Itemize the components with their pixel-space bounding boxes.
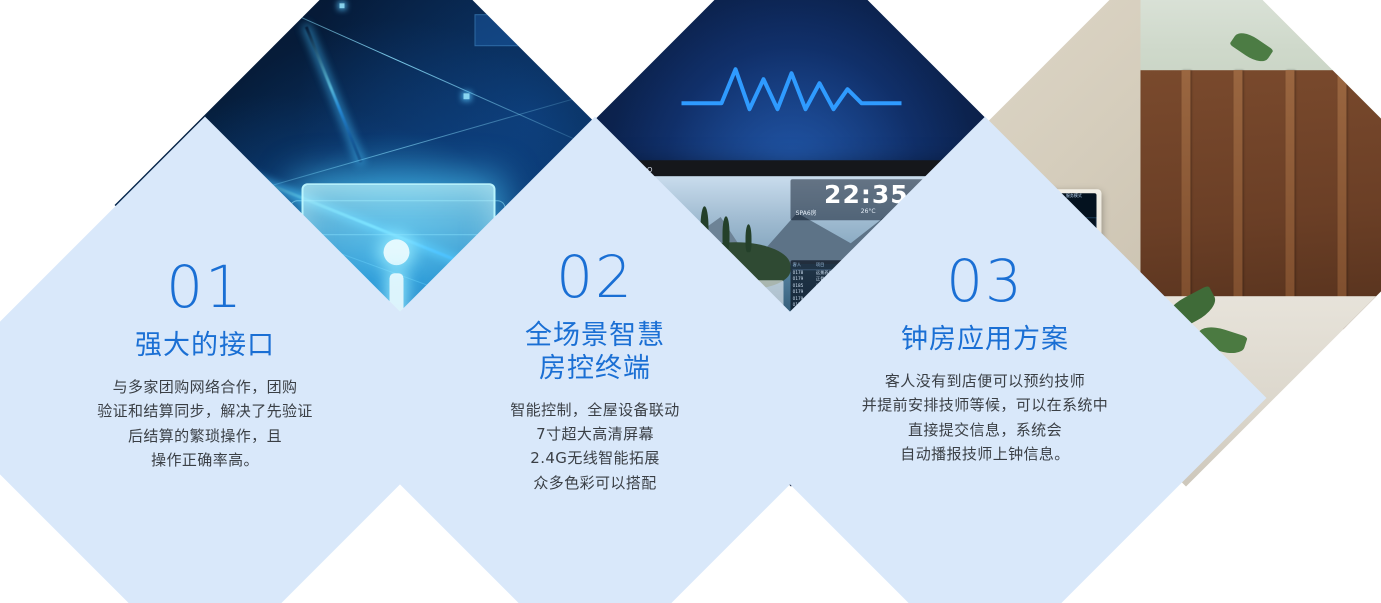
clock-temp: 26°C (861, 209, 876, 218)
pulse-waveform-icon (681, 59, 901, 121)
table-header-cell: 客人 (793, 262, 814, 269)
clock-room: SPA6房 (796, 209, 817, 218)
diamond-feature-banner: CSI2BO 22:35 (0, 0, 1381, 603)
